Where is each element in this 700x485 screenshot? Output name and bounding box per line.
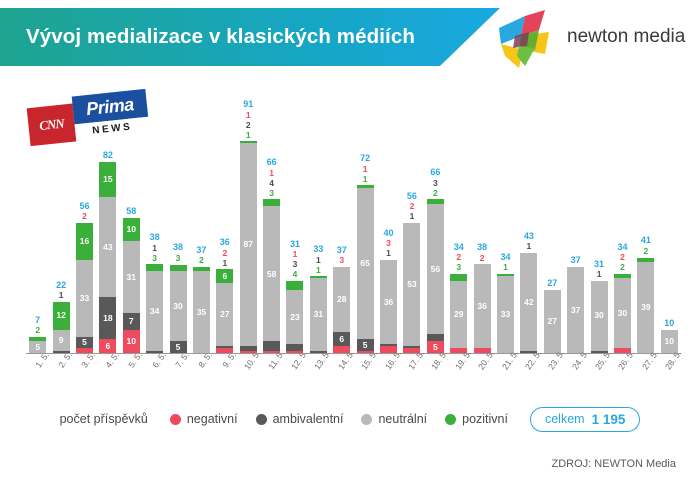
bar-segment-: 33 <box>76 260 93 337</box>
bar-total-label: 72 <box>360 153 370 163</box>
stacked-bar-chart: 2571291221633525615431868210317105833413… <box>26 115 681 353</box>
legend-items: negativníambivalentníneutrálnípozitivní <box>170 412 526 426</box>
bar-segment-: 23 <box>286 290 303 344</box>
legend-color-swatch <box>361 414 372 425</box>
x-axis-labels: 1. 5.2. 5.3. 5.4. 5.5. 5.6. 5.7. 5.8. 5.… <box>26 354 681 390</box>
segment-value-label: 58 <box>267 270 276 279</box>
x-axis-tick: 13. 5. <box>307 354 330 390</box>
segment-value-label: 2 <box>620 263 625 272</box>
bar-segment-: 33 <box>497 276 514 353</box>
bar-total-label: 37 <box>196 245 206 255</box>
bar-segment-: 35 <box>193 271 210 353</box>
bar-total-label: 66 <box>267 157 277 167</box>
segment-value-label: 33 <box>501 310 510 319</box>
segment-value-label: 30 <box>173 302 182 311</box>
bar-column: 257 <box>26 115 49 353</box>
bar-stack: 2727 <box>544 290 561 353</box>
segment-value-label: 43 <box>103 243 112 252</box>
bar-segment-amb <box>427 334 444 341</box>
bar-stack: 36238 <box>474 264 491 353</box>
bar-column: 42143 <box>517 115 540 353</box>
bar-stack: 6271236 <box>216 269 233 353</box>
bar-segment-pos: 16 <box>76 223 93 260</box>
bar-total-label: 33 <box>313 244 323 254</box>
legend-item[interactable]: ambivalentní <box>256 412 344 426</box>
segment-value-label: 1 <box>597 270 602 279</box>
segment-value-label: 1 <box>503 263 508 272</box>
bar-column: 1010 <box>658 115 681 353</box>
bar-stack: 42143 <box>520 253 537 353</box>
segment-value-label: 28 <box>337 295 346 304</box>
segment-value-label: 3 <box>386 239 391 248</box>
x-axis-tick: 9. 5. <box>213 354 236 390</box>
chart-legend: počet příspěvků negativníambivalentníneu… <box>0 403 700 435</box>
x-axis-tick: 18. 5. <box>424 354 447 390</box>
bar-total-label: 27 <box>547 278 557 288</box>
bar-column: 6271236 <box>213 115 236 353</box>
segment-value-label: 5 <box>35 343 40 352</box>
bar-stack: 154318682 <box>99 162 116 353</box>
segment-value-label: 1 <box>386 249 391 258</box>
bar-segment-: 36 <box>380 260 397 344</box>
legend-color-swatch <box>445 414 456 425</box>
bar-segment-: 39 <box>637 262 654 353</box>
segment-value-label: 9 <box>59 336 64 345</box>
bar-column: 16335256 <box>73 115 96 353</box>
bar-segment-: 27 <box>216 283 233 346</box>
segment-value-label: 2 <box>82 212 87 221</box>
bar-column: 154318682 <box>96 115 119 353</box>
x-axis-tick-label: 4. 5. <box>103 350 121 369</box>
x-axis-tick: 10. 5. <box>237 354 260 390</box>
bar-stack: 16335256 <box>76 223 93 353</box>
total-label: celkem <box>545 412 585 426</box>
segment-value-label: 5 <box>363 341 368 350</box>
total-value: 1 195 <box>592 412 626 427</box>
x-axis-tick-label: 3. 5. <box>80 350 98 369</box>
page-title: Vývoj medializace v klasických médiích <box>26 25 415 49</box>
x-axis-tick-label: 7. 5. <box>173 350 191 369</box>
bar-stack: 3584166 <box>263 199 280 353</box>
bar-segment-: 29 <box>450 281 467 349</box>
x-axis-tick: 1. 5. <box>26 354 49 390</box>
x-axis-tick: 4. 5. <box>96 354 119 390</box>
bar-segment-: 43 <box>99 197 116 297</box>
x-axis-tick: 20. 5. <box>470 354 493 390</box>
segment-value-label: 2 <box>222 249 227 258</box>
legend-label: negativní <box>187 412 238 426</box>
segment-value-label: 3 <box>152 254 157 263</box>
bar-total-label: 56 <box>79 201 89 211</box>
segment-value-label: 6 <box>222 272 227 281</box>
segment-value-label: 4 <box>293 270 298 279</box>
bar-segment-: 65 <box>357 188 374 339</box>
bar-segment-: 31 <box>123 241 140 313</box>
bar-stack: 1655172 <box>357 185 374 353</box>
bar-segment-: 56 <box>427 204 444 334</box>
bar-segment-amb: 6 <box>333 332 350 346</box>
segment-value-label: 30 <box>594 311 603 320</box>
segment-value-label: 5 <box>82 338 87 347</box>
bar-total-label: 36 <box>220 237 230 247</box>
bar-total-label: 66 <box>430 167 440 177</box>
chart-plot-area: 2571291221633525615431868210317105833413… <box>26 115 681 353</box>
segment-value-label: 10 <box>127 225 136 234</box>
segment-value-label: 2 <box>410 202 415 211</box>
source-attribution: ZDROJ: NEWTON Media <box>552 458 676 470</box>
x-axis-tick-label: 5. 5. <box>127 350 145 369</box>
segment-value-label: 2 <box>480 254 485 263</box>
bar-column: 286337 <box>330 115 353 353</box>
bar-segment-pos: 15 <box>99 162 116 197</box>
segment-value-label: 6 <box>339 335 344 344</box>
bar-segment-: 30 <box>614 278 631 348</box>
segment-value-label: 87 <box>243 240 252 249</box>
x-axis-tick-label: 2. 5. <box>56 350 74 369</box>
segment-value-label: 2 <box>643 247 648 256</box>
bar-segment-: 31 <box>310 278 327 350</box>
bar-total-label: 40 <box>384 228 394 238</box>
segment-value-label: 36 <box>384 298 393 307</box>
bar-column: 13334 <box>494 115 517 353</box>
bar-stack: 23941 <box>637 257 654 353</box>
bar-segment-: 36 <box>474 264 491 348</box>
bar-total-label: 38 <box>477 242 487 252</box>
bar-column: 4233131 <box>283 115 306 353</box>
segment-value-label: 15 <box>103 175 112 184</box>
bar-total-label: 34 <box>500 252 510 262</box>
bar-segment-: 9 <box>53 330 70 351</box>
segment-value-label: 31 <box>314 310 323 319</box>
bar-column: 23537 <box>190 115 213 353</box>
segment-value-label: 1 <box>316 256 321 265</box>
segment-value-label: 1 <box>269 169 274 178</box>
legend-item[interactable]: negativní <box>170 412 238 426</box>
bar-stack: 329234 <box>450 274 467 353</box>
bar-total-label: 31 <box>594 259 604 269</box>
bar-column: 30131 <box>587 115 610 353</box>
bar-segment-pos <box>170 265 187 272</box>
bar-stack: 286337 <box>333 267 350 353</box>
bar-segment-: 87 <box>240 143 257 346</box>
segment-value-label: 2 <box>433 189 438 198</box>
total-badge: celkem 1 195 <box>530 407 640 432</box>
brand-name: newton media <box>567 26 685 48</box>
x-axis-tick: 3. 5. <box>73 354 96 390</box>
legend-item[interactable]: neutrální <box>361 412 427 426</box>
x-axis-tick: 7. 5. <box>166 354 189 390</box>
bar-total-label: 43 <box>524 231 534 241</box>
bar-total-label: 34 <box>454 242 464 252</box>
segment-value-label: 1 <box>363 165 368 174</box>
segment-value-label: 1 <box>410 212 415 221</box>
bar-column: 131133 <box>307 115 330 353</box>
segment-value-label: 5 <box>433 343 438 352</box>
segment-value-label: 29 <box>454 310 463 319</box>
bar-total-label: 91 <box>243 99 253 109</box>
segment-value-label: 36 <box>477 302 486 311</box>
x-axis-tick: 21. 5. <box>494 354 517 390</box>
segment-value-label: 35 <box>197 308 206 317</box>
x-axis-tick-label: 6. 5. <box>150 350 168 369</box>
x-axis-tick: 19. 5. <box>447 354 470 390</box>
bar-column: 1872191 <box>237 115 260 353</box>
segment-value-label: 1 <box>59 291 64 300</box>
segment-value-label: 1 <box>527 242 532 251</box>
bar-column: 129122 <box>49 115 72 353</box>
segment-value-label: 3 <box>293 260 298 269</box>
x-axis-tick-label: 1. 5. <box>33 350 51 369</box>
header-banner: Vývoj medializace v klasických médiích <box>0 8 500 66</box>
segment-value-label: 4 <box>269 179 274 188</box>
bar-stack: 131133 <box>310 276 327 353</box>
bar-segment-pos: 6 <box>216 269 233 283</box>
legend-title: počet příspěvků <box>60 412 148 426</box>
bar-stack: 103171058 <box>123 218 140 353</box>
segment-value-label: 56 <box>431 265 440 274</box>
x-axis-tick-label: 8. 5. <box>197 350 215 369</box>
x-axis-tick: 16. 5. <box>377 354 400 390</box>
bar-segment-: 34 <box>146 271 163 350</box>
segment-value-label: 1 <box>246 111 251 120</box>
bar-segment-: 53 <box>403 223 420 346</box>
x-axis-tick: 14. 5. <box>330 354 353 390</box>
bar-stack: 531256 <box>403 223 420 353</box>
legend-color-swatch <box>256 414 267 425</box>
bar-column: 23941 <box>634 115 657 353</box>
segment-value-label: 12 <box>56 311 65 320</box>
x-axis-tick: 25. 5. <box>587 354 610 390</box>
segment-value-label: 31 <box>127 273 136 282</box>
bar-total-label: 56 <box>407 191 417 201</box>
bar-column: 2727 <box>541 115 564 353</box>
bar-column: 330538 <box>166 115 189 353</box>
bar-segment-: 42 <box>520 253 537 351</box>
segment-value-label: 3 <box>456 263 461 272</box>
bar-total-label: 10 <box>664 318 674 328</box>
segment-value-label: 33 <box>80 294 89 303</box>
bar-column: 103171058 <box>120 115 143 353</box>
segment-value-label: 1 <box>363 175 368 184</box>
bar-segment-pos <box>450 274 467 281</box>
bar-segment-pos: 10 <box>123 218 140 241</box>
segment-value-label: 23 <box>290 313 299 322</box>
bar-total-label: 34 <box>617 242 627 252</box>
segment-value-label: 2 <box>35 326 40 335</box>
segment-value-label: 37 <box>571 306 580 315</box>
segment-value-label: 2 <box>199 256 204 265</box>
bar-segment-pos <box>286 281 303 290</box>
segment-value-label: 1 <box>222 259 227 268</box>
bar-segment-pos <box>263 199 280 206</box>
segment-value-label: 6 <box>105 342 110 351</box>
bar-column: 361340 <box>377 115 400 353</box>
bar-segment-: 27 <box>544 290 561 353</box>
bar-segment-neg: 10 <box>123 330 140 353</box>
x-axis-tick: 24. 5. <box>564 354 587 390</box>
segment-value-label: 39 <box>641 303 650 312</box>
bar-column: 230234 <box>611 115 634 353</box>
segment-value-label: 3 <box>176 254 181 263</box>
bar-column: 2563566 <box>424 115 447 353</box>
x-axis-tick: 27. 5. <box>634 354 657 390</box>
segment-value-label: 10 <box>665 337 674 346</box>
bar-segment-amb: 7 <box>123 313 140 329</box>
segment-value-label: 18 <box>103 314 112 323</box>
segment-value-label: 5 <box>176 343 181 352</box>
bar-segment-pos <box>146 264 163 271</box>
bar-total-label: 31 <box>290 239 300 249</box>
bar-stack: 30131 <box>591 281 608 353</box>
segment-value-label: 27 <box>548 317 557 326</box>
bar-stack: 3737 <box>567 267 584 353</box>
segment-value-label: 3 <box>433 179 438 188</box>
segment-value-label: 1 <box>152 244 157 253</box>
segment-value-label: 1 <box>293 250 298 259</box>
bar-segment-amb: 18 <box>99 297 116 339</box>
bar-total-label: 7 <box>35 315 40 325</box>
bar-stack: 361340 <box>380 260 397 353</box>
legend-item[interactable]: pozitivní <box>445 412 508 426</box>
bar-stack: 330538 <box>170 264 187 353</box>
segment-value-label: 1 <box>316 266 321 275</box>
legend-label: neutrální <box>378 412 427 426</box>
bar-total-label: 41 <box>641 235 651 245</box>
bar-total-label: 82 <box>103 150 113 160</box>
bar-segment-: 28 <box>333 267 350 332</box>
bar-column: 531256 <box>400 115 423 353</box>
segment-value-label: 1 <box>246 131 251 140</box>
bar-segment-: 30 <box>170 271 187 341</box>
bar-total-label: 37 <box>337 245 347 255</box>
x-axis-tick: 26. 5. <box>611 354 634 390</box>
newton-star-logo-icon <box>495 6 557 68</box>
legend-label: pozitivní <box>462 412 508 426</box>
segment-value-label: 42 <box>524 298 533 307</box>
x-axis-tick: 8. 5. <box>190 354 213 390</box>
bar-stack: 23537 <box>193 267 210 353</box>
bar-stack: 4233131 <box>286 281 303 353</box>
legend-label: ambivalentní <box>273 412 344 426</box>
bar-total-label: 38 <box>150 232 160 242</box>
bar-stack: 13334 <box>497 274 514 353</box>
x-axis-tick: 28. 5. <box>658 354 681 390</box>
bar-column: 1655172 <box>353 115 376 353</box>
bar-segment-: 58 <box>263 206 280 341</box>
segment-value-label: 2 <box>456 253 461 262</box>
brand-block: newton media <box>495 4 700 70</box>
x-axis-tick: 2. 5. <box>49 354 72 390</box>
segment-value-label: 2 <box>246 121 251 130</box>
bar-segment-pos: 12 <box>53 302 70 330</box>
bar-segment-: 37 <box>567 267 584 353</box>
segment-value-label: 30 <box>618 309 627 318</box>
segment-value-label: 27 <box>220 310 229 319</box>
bar-segment-: 30 <box>591 281 608 351</box>
bar-total-label: 37 <box>571 255 581 265</box>
x-axis-tick-label: 9. 5. <box>220 350 238 369</box>
segment-value-label: 16 <box>80 237 89 246</box>
segment-value-label: 34 <box>150 307 159 316</box>
legend-color-swatch <box>170 414 181 425</box>
bar-total-label: 22 <box>56 280 66 290</box>
bar-stack: 2563566 <box>427 199 444 353</box>
bar-column: 3584166 <box>260 115 283 353</box>
segment-value-label: 10 <box>127 337 136 346</box>
segment-value-label: 7 <box>129 317 134 326</box>
bar-stack: 129122 <box>53 302 70 353</box>
x-axis-tick: 11. 5. <box>260 354 283 390</box>
segment-value-label: 3 <box>339 256 344 265</box>
x-axis-tick: 22. 5. <box>517 354 540 390</box>
x-axis-tick: 12. 5. <box>283 354 306 390</box>
bar-column: 334138 <box>143 115 166 353</box>
x-axis-tick: 23. 5. <box>541 354 564 390</box>
bar-stack: 1872191 <box>240 141 257 353</box>
x-axis-tick: 15. 5. <box>353 354 376 390</box>
bar-stack: 230234 <box>614 274 631 353</box>
bar-column: 329234 <box>447 115 470 353</box>
bar-column: 3737 <box>564 115 587 353</box>
bar-stack: 334138 <box>146 264 163 353</box>
x-axis-tick: 5. 5. <box>120 354 143 390</box>
segment-value-label: 53 <box>407 280 416 289</box>
bar-segment-amb: 5 <box>76 337 93 349</box>
x-axis-tick: 17. 5. <box>400 354 423 390</box>
x-axis-tick: 6. 5. <box>143 354 166 390</box>
segment-value-label: 65 <box>360 259 369 268</box>
bar-total-label: 58 <box>126 206 136 216</box>
segment-value-label: 2 <box>620 253 625 262</box>
bar-total-label: 38 <box>173 242 183 252</box>
bar-column: 36238 <box>470 115 493 353</box>
segment-value-label: 3 <box>269 189 274 198</box>
